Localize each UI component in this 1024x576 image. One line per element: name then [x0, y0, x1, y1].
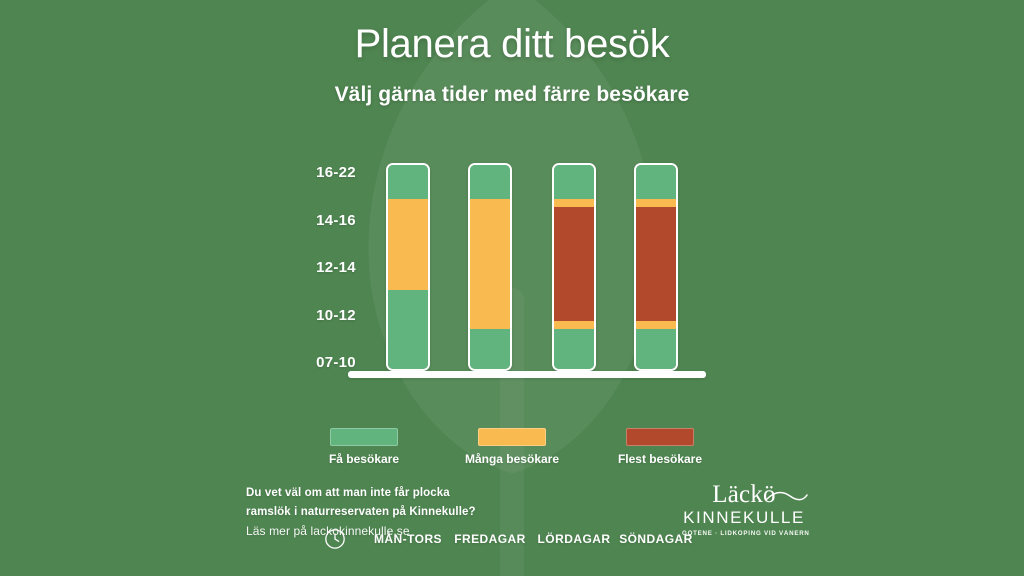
legend-swatch-many: [478, 428, 546, 446]
y-tick-label: 12-14: [300, 260, 372, 275]
logo-tagline: GÖTENE · LIDKÖPING VID VÄNERN: [682, 528, 806, 539]
bar-segment-few: [554, 165, 594, 199]
footer-note-line-1: Du vet väl om att man inte får plocka: [246, 484, 576, 503]
bar-segment-most: [636, 290, 676, 321]
bar-segment-most: [554, 243, 594, 291]
bar-segment-many: [554, 199, 594, 207]
footer-note-line-3: Läs mer på lackokinnekulle.se: [246, 522, 576, 541]
bar-segment-many: [388, 243, 428, 291]
y-tick-label: 10-12: [300, 308, 372, 323]
bar-segment-few: [636, 329, 676, 369]
bar-lordagar: [552, 163, 596, 371]
bar-segment-many: [470, 243, 510, 291]
bar-segment-many: [636, 321, 676, 329]
y-tick-label: 07-10: [300, 355, 372, 370]
bar-segment-few: [388, 290, 428, 329]
chart-legend: Få besökare Många besökare Flest besökar…: [0, 428, 1024, 466]
legend-label-many: Många besökare: [465, 452, 559, 466]
bar-fredagar: [468, 163, 512, 371]
x-axis-line: [348, 371, 706, 378]
bar-segment-few: [388, 165, 428, 199]
bar-segment-few: [470, 329, 510, 369]
bar-segment-most: [636, 207, 676, 243]
bar-segment-many: [470, 199, 510, 243]
page-title: Planera ditt besök: [0, 22, 1024, 67]
bar-segment-many: [636, 199, 676, 207]
legend-label-few: Få besökare: [329, 452, 399, 466]
legend-label-most: Flest besökare: [618, 452, 702, 466]
bar-segment-few: [388, 329, 428, 369]
lacko-kinnekulle-logo: Läckö KINNEKULLE GÖTENE · LIDKÖPING VID …: [682, 481, 806, 539]
footer-note: Du vet väl om att man inte får plocka ra…: [246, 484, 576, 541]
logo-wordmark-lacko: Läckö: [682, 481, 806, 508]
bar-sondagar: [634, 163, 678, 371]
legend-item-most: Flest besökare: [605, 428, 715, 466]
bar-segment-many: [470, 290, 510, 329]
logo-swoosh-icon: [766, 490, 808, 506]
legend-swatch-most: [626, 428, 694, 446]
legend-item-many: Många besökare: [457, 428, 567, 466]
bar-segment-many: [554, 321, 594, 329]
logo-wordmark-kinnekulle: KINNEKULLE: [682, 508, 806, 528]
chart: 16-22 14-16 12-14 10-12 07-10 MÅN-TORS F…: [0, 150, 1024, 410]
y-tick-label: 16-22: [300, 165, 372, 180]
bar-segment-most: [636, 243, 676, 291]
page-subtitle: Välj gärna tider med färre besökare: [0, 83, 1024, 107]
bar-segment-few: [554, 329, 594, 369]
y-tick-label: 14-16: [300, 213, 372, 228]
bar-segment-few: [636, 165, 676, 199]
bar-man-tors: [386, 163, 430, 371]
bar-segment-few: [470, 165, 510, 199]
legend-swatch-few: [330, 428, 398, 446]
bar-segment-most: [554, 290, 594, 321]
bar-segment-many: [388, 199, 428, 243]
bars-plot: [386, 163, 698, 371]
header: Planera ditt besök Välj gärna tider med …: [0, 0, 1024, 107]
y-axis-time-slots: 16-22 14-16 12-14 10-12 07-10: [300, 165, 372, 370]
legend-item-few: Få besökare: [309, 428, 419, 466]
footer-note-line-2: ramslök i naturreservaten på Kinnekulle?: [246, 503, 576, 522]
bar-segment-most: [554, 207, 594, 243]
